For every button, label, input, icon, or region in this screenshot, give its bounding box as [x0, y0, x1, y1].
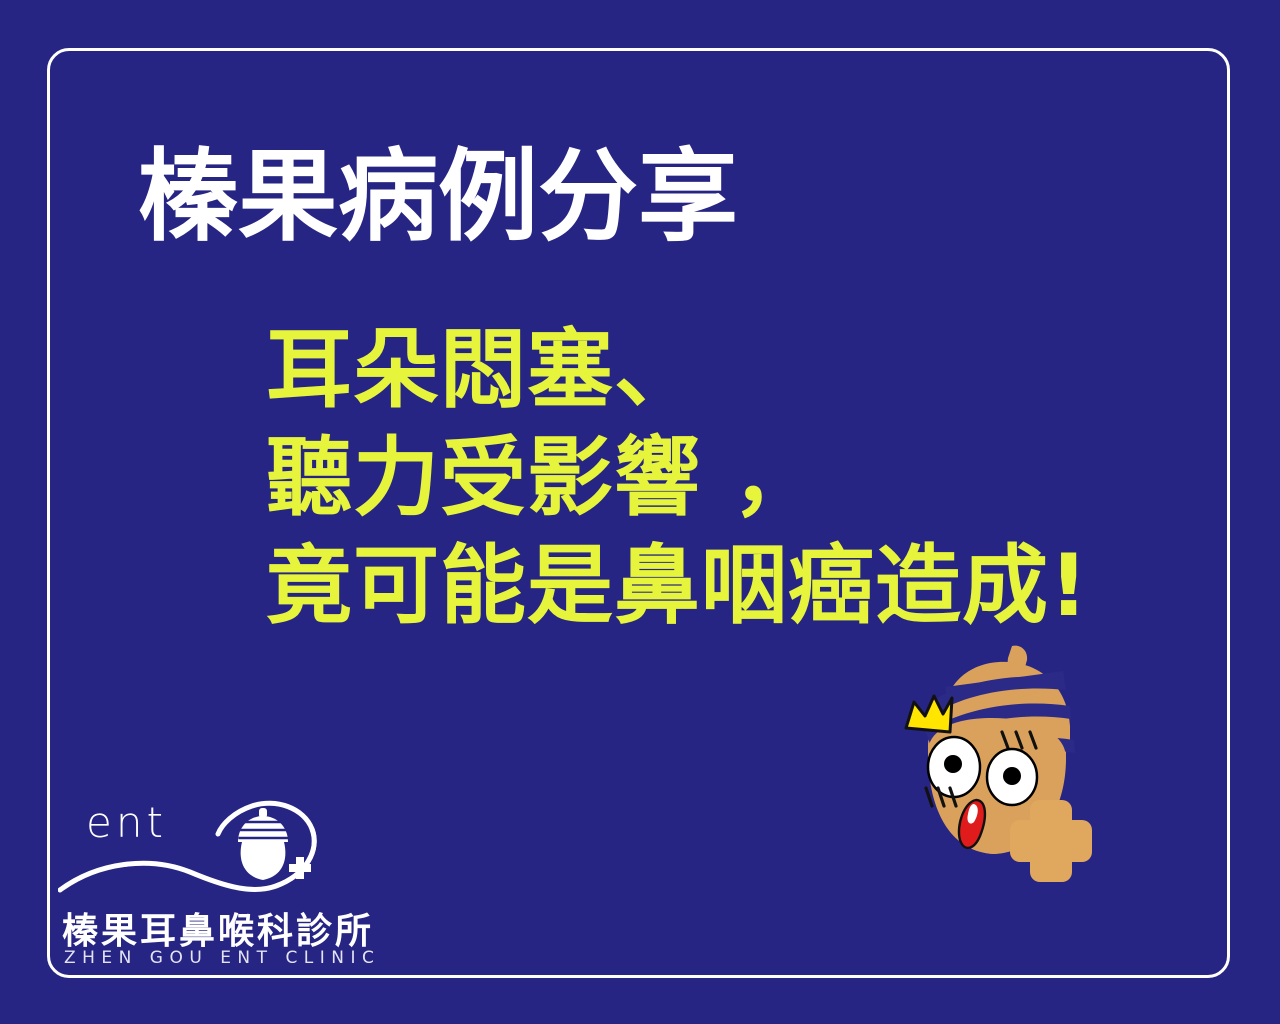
headline-block: 耳朵悶塞、 聽力受影響 ， 竟可能是鼻咽癌造成! [266, 316, 1166, 640]
headline-line-2: 聽力受影響 ， [266, 424, 1166, 532]
headline-line-1: 耳朵悶塞、 [266, 316, 1166, 424]
headline-line-3: 竟可能是鼻咽癌造成! [266, 532, 1166, 640]
acorn-mascot-illustration [888, 640, 1108, 892]
clinic-name-en: ZHEN GOU ENT CLINIC [64, 948, 380, 968]
clinic-name-cn: 榛果耳鼻喉科診所 [62, 902, 374, 954]
clinic-logo: ent 榛果耳鼻喉科診所 ZHEN GOU ENT CLINIC [58, 798, 358, 978]
slide-canvas: 榛果病例分享 耳朵悶塞、 聽力受影響 ， 竟可能是鼻咽癌造成! ent 榛果耳鼻… [0, 0, 1280, 1024]
logo-wordmark: ent [86, 802, 167, 844]
page-title: 榛果病例分享 [138, 140, 738, 252]
